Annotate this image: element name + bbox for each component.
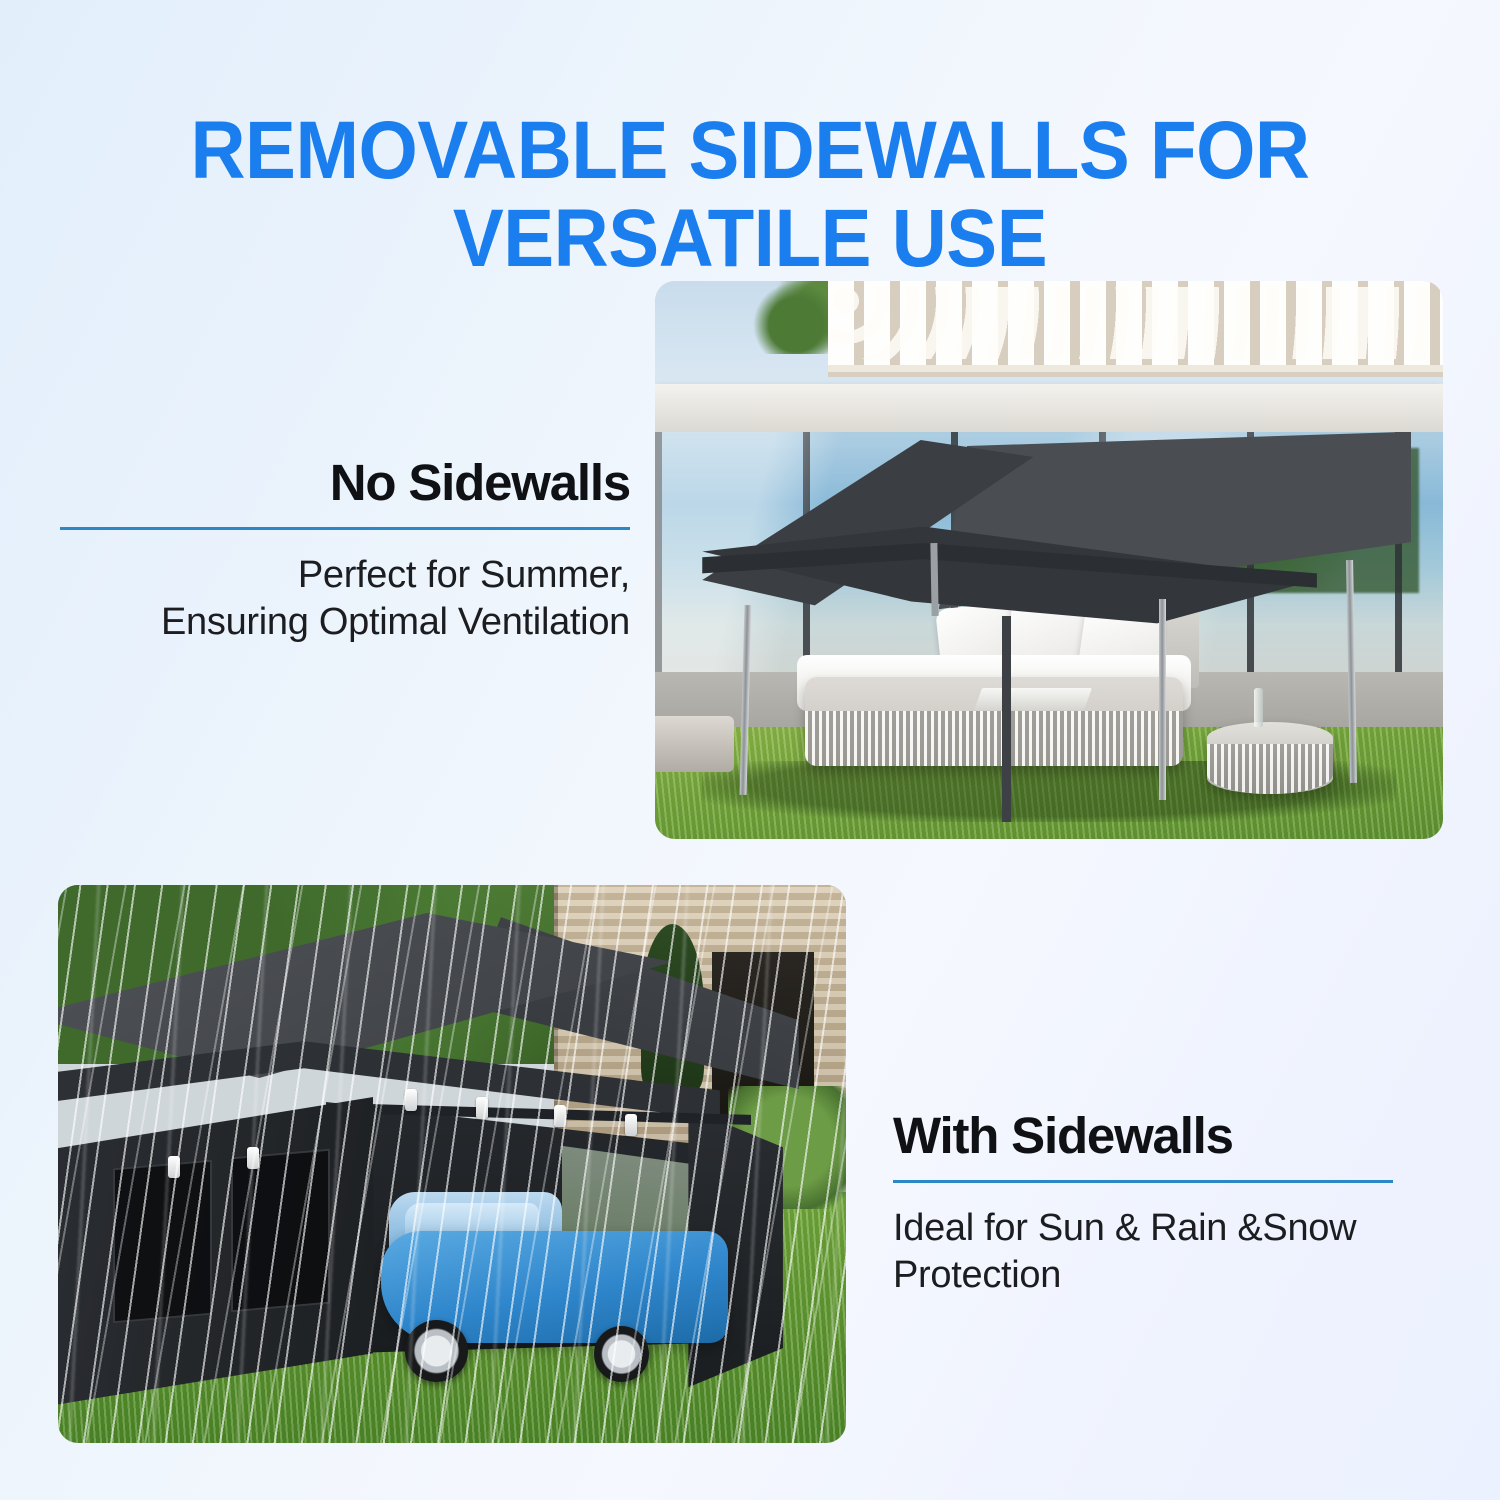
house-roof-fascia (655, 384, 1443, 434)
car-wheel (405, 1320, 468, 1381)
feature-heading-with-sidewalls: With Sidewalls (893, 1108, 1393, 1164)
car-wheel (594, 1326, 649, 1382)
canopy-leg (1002, 616, 1011, 822)
daybed-woven-ribs (805, 711, 1183, 767)
feature-heading-no-sidewalls: No Sidewalls (60, 455, 630, 511)
open-book (974, 688, 1092, 710)
feature-divider-with-sidewalls (893, 1180, 1393, 1183)
sidewall-clip (554, 1105, 566, 1127)
feature-photo-with-sidewalls (58, 885, 846, 1443)
sidewall-window-left (231, 1149, 330, 1312)
feature-divider-no-sidewalls (60, 527, 630, 530)
side-table-woven-ribs (1207, 744, 1333, 794)
sidewall-clip (476, 1097, 488, 1119)
wicker-basket (655, 716, 734, 772)
promo-image-root: REMOVABLE SIDEWALLS FOR VERSATILE USE No… (0, 0, 1500, 1500)
canopy-leg (1159, 599, 1166, 800)
sidewall-window-left (113, 1160, 212, 1323)
sidewall-clip (625, 1114, 637, 1136)
feature-block-no-sidewalls: No Sidewalls Perfect for Summer, Ensurin… (60, 455, 630, 646)
feature-body-with-sidewalls: Ideal for Sun & Rain &Snow Protection (893, 1205, 1393, 1299)
pergola-fabric-waves (828, 287, 1443, 360)
sidewall-clip (405, 1089, 417, 1111)
page-title: REMOVABLE SIDEWALLS FOR VERSATILE USE (53, 107, 1448, 283)
feature-block-with-sidewalls: With Sidewalls Ideal for Sun & Rain &Sno… (893, 1108, 1393, 1299)
bottle (1254, 688, 1263, 727)
feature-body-no-sidewalls: Perfect for Summer, Ensuring Optimal Ven… (60, 552, 630, 646)
feature-photo-no-sidewalls (655, 281, 1443, 839)
scene-patio-canopy (655, 281, 1443, 839)
canopy-leg (930, 543, 938, 616)
scene-carport-rain (58, 885, 846, 1443)
sidewall-clip (247, 1147, 259, 1169)
sidewall-clip (168, 1156, 180, 1178)
